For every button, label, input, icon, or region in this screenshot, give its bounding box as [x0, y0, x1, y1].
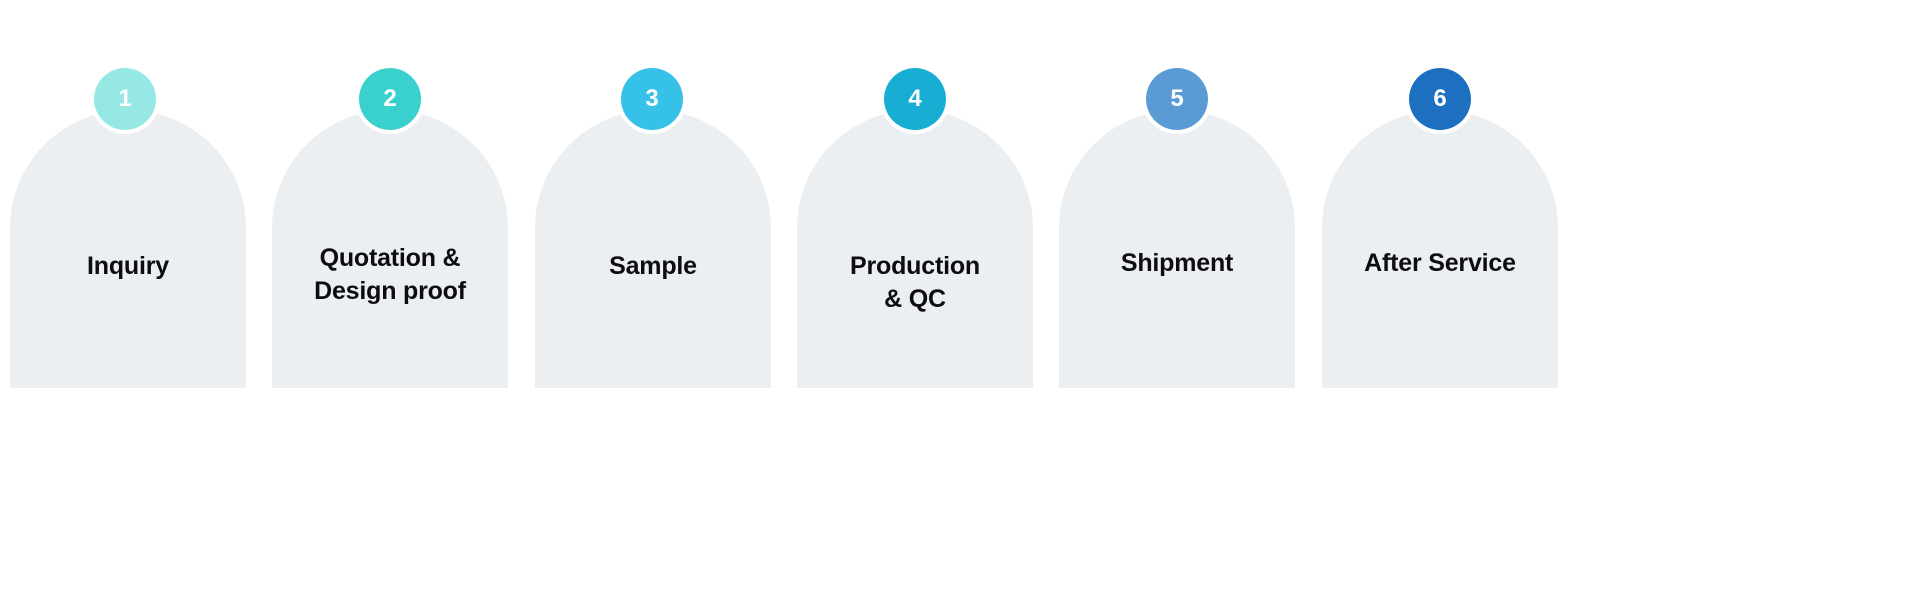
process-step-number-badge[interactable]: 4 [884, 68, 946, 130]
process-step-label: Inquiry [10, 250, 246, 283]
process-step-number-badge[interactable]: 1 [94, 68, 156, 130]
process-step-label: Sample [535, 250, 771, 283]
process-step-card[interactable]: Shipment [1059, 110, 1295, 388]
process-step-label: Shipment [1059, 247, 1295, 280]
process-step-card[interactable]: Quotation & Design proof [272, 110, 508, 388]
process-step-label: Quotation & Design proof [272, 242, 508, 308]
process-step-card[interactable]: Inquiry [10, 110, 246, 388]
process-step-number-badge[interactable]: 5 [1146, 68, 1208, 130]
process-step-label: After Service [1322, 247, 1558, 280]
process-step-label: Production & QC [797, 250, 1033, 316]
process-flow-diagram: Inquiry1Quotation & Design proof2Sample3… [0, 0, 1920, 600]
process-step-card[interactable]: Production & QC [797, 110, 1033, 388]
process-step-card[interactable]: After Service [1322, 110, 1558, 388]
process-step-card[interactable]: Sample [535, 110, 771, 388]
process-step-number-badge[interactable]: 2 [359, 68, 421, 130]
process-step-number-badge[interactable]: 3 [621, 68, 683, 130]
process-step-number-badge[interactable]: 6 [1409, 68, 1471, 130]
